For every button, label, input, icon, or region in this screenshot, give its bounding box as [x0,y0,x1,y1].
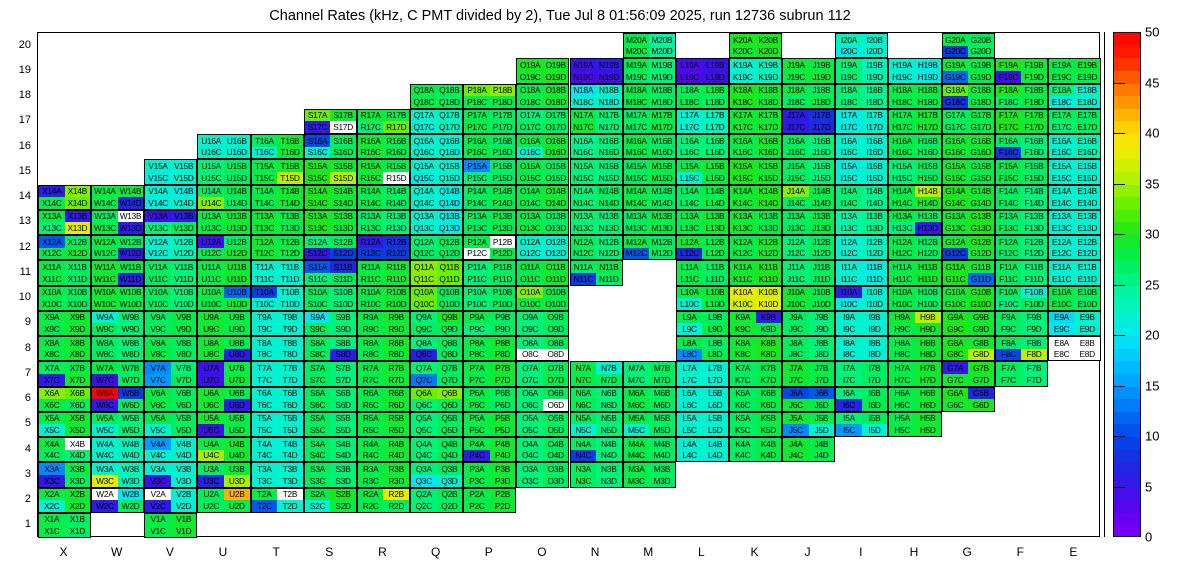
heatmap-block: H14AH14BH14CH14D [888,185,941,210]
heatmap-block: I13AI13BI13CI13D [835,210,888,235]
heatmap-channel: F16C [996,147,1022,159]
heatmap-channel: E9A [1049,312,1075,324]
heatmap-channel: G15C [943,172,969,184]
heatmap-channel: V10A [145,287,171,299]
heatmap-channel: T13D [277,222,303,234]
heatmap-channel: X5A [39,413,65,425]
heatmap-channel: M7D [649,374,675,386]
heatmap-channel: E14D [1074,197,1100,209]
heatmap-block: N15AN15BN15CN15D [570,159,623,184]
heatmap-block: W13AW13BW13CW13D [91,210,144,235]
heatmap-channel: X9A [39,312,65,324]
heatmap-channel: J11D [809,273,835,285]
heatmap-channel: E14A [1049,186,1075,198]
heatmap-channel: H11B [915,261,941,273]
heatmap-channel: H6B [915,388,941,400]
heatmap-channel: T14D [277,197,303,209]
heatmap-channel: G11A [943,261,969,273]
colorbar-tick-label: 10 [1145,429,1159,444]
heatmap-channel: N19B [596,59,622,71]
heatmap-block: O7AO7BO7CO7D [516,361,569,386]
heatmap-channel: I14C [836,197,862,209]
heatmap-block: O17AO17BO17CO17D [516,109,569,134]
heatmap-channel: S4D [330,450,356,462]
heatmap-channel: S8A [305,337,331,349]
heatmap-block: K11AK11BK11CK11D [729,260,782,285]
heatmap-channel: O10C [517,298,543,310]
heatmap-channel: V3A [145,463,171,475]
heatmap-channel: H11C [889,273,915,285]
heatmap-channel: P10C [464,298,490,310]
heatmap-channel: N4A [571,438,597,450]
heatmap-channel: F11B [1021,261,1047,273]
heatmap-block: U5AU5BU5CU5D [197,412,250,437]
heatmap-channel: J8A [783,337,809,349]
heatmap-channel: X10C [39,298,65,310]
heatmap-block: H18AH18BH18CH18D [888,84,941,109]
heatmap-channel: Q17D [437,121,463,133]
heatmap-channel: N15C [571,172,597,184]
heatmap-channel: J15C [783,172,809,184]
heatmap-channel: U5D [224,424,250,436]
heatmap-block: X11AX11BX11CX11D [38,260,91,285]
heatmap-channel: M19D [649,71,675,83]
heatmap-channel: R7A [358,362,384,374]
heatmap-channel: L4D [702,450,728,462]
heatmap-channel: L5B [702,413,728,425]
heatmap-block: E17AE17BE17CE17D [1048,109,1101,134]
heatmap-channel: Q6B [437,388,463,400]
heatmap-channel: G6C [943,399,969,411]
heatmap-channel: W4A [92,438,118,450]
heatmap-channel: N4B [596,438,622,450]
heatmap-channel: M6B [649,388,675,400]
heatmap-channel: L8D [702,349,728,361]
heatmap-channel: J6D [809,399,835,411]
heatmap-channel: Q15B [437,160,463,172]
heatmap-channel: S9A [305,312,331,324]
heatmap-channel: K12D [756,248,782,260]
heatmap-channel: J10A [783,287,809,299]
heatmap-channel: S12B [330,236,356,248]
heatmap-channel: S3D [330,475,356,487]
heatmap-channel: N13D [596,222,622,234]
heatmap-block: X12AX12BX12CX12D [38,235,91,260]
heatmap-block: H7AH7BH7CH7D [888,361,941,386]
heatmap-channel: I18D [862,96,888,108]
heatmap-channel: P11D [490,273,516,285]
heatmap-channel: K10D [756,298,782,310]
heatmap-channel: J17B [809,110,835,122]
heatmap-channel: P13A [464,211,490,223]
heatmap-channel: X11C [39,273,65,285]
heatmap-channel: E14B [1074,186,1100,198]
heatmap-channel: W11C [92,273,118,285]
heatmap-channel: L15C [677,172,703,184]
heatmap-block: R10AR10BR10CR10D [357,286,410,311]
heatmap-channel: M4C [624,450,650,462]
heatmap-channel: E9B [1074,312,1100,324]
heatmap-block: P4AP4BP4CP4D [463,437,516,462]
heatmap-channel: J5D [809,424,835,436]
heatmap-channel: K15B [756,160,782,172]
heatmap-channel: M12D [649,248,675,260]
heatmap-block: V7AV7BV7CV7D [144,361,197,386]
heatmap-channel: O8B [543,337,569,349]
heatmap-channel: G6A [943,388,969,400]
heatmap-channel: F17D [1021,121,1047,133]
heatmap-block: E19AE19BE19CE19D [1048,58,1101,83]
heatmap-channel: X8D [65,349,91,361]
y-tick-label: 5 [25,417,31,429]
heatmap-channel: W12C [92,248,118,260]
heatmap-channel: N13C [571,222,597,234]
heatmap-channel: J7A [783,362,809,374]
heatmap-channel: W11B [118,261,144,273]
heatmap-block: R16AR16BR16CR16D [357,134,410,159]
heatmap-channel: R11C [358,273,384,285]
heatmap-channel: J6A [783,388,809,400]
heatmap-block: O5AO5BO5CO5D [516,412,569,437]
heatmap-channel: N16B [596,135,622,147]
heatmap-channel: I10C [836,298,862,310]
heatmap-channel: K17B [756,110,782,122]
heatmap-block: J9AJ9BJ9CJ9D [782,311,835,336]
heatmap-channel: F13D [1021,222,1047,234]
heatmap-channel: U6B [224,388,250,400]
heatmap-channel: H9C [889,323,915,335]
heatmap-channel: N6A [571,388,597,400]
chart-title: Channel Rates (kHz, C PMT divided by 2),… [0,8,1120,24]
heatmap-block: O16AO16BO16CO16D [516,134,569,159]
heatmap-channel: J15B [809,160,835,172]
heatmap-block: G16AG16BG16CG16D [942,134,995,159]
heatmap-channel: N15A [571,160,597,172]
heatmap-channel: H14B [915,186,941,198]
heatmap-channel: V2B [171,489,197,501]
heatmap-channel: N7B [596,362,622,374]
heatmap-channel: P13C [464,222,490,234]
heatmap-block: N18AN18BN18CN18D [570,84,623,109]
heatmap-channel: L13B [702,211,728,223]
heatmap-channel: E10A [1049,287,1075,299]
heatmap-channel: O3D [543,475,569,487]
heatmap-channel: I13C [836,222,862,234]
heatmap-channel: F19B [1021,59,1047,71]
heatmap-channel: V6D [171,399,197,411]
heatmap-channel: L11C [677,273,703,285]
heatmap-channel: P17C [464,121,490,133]
heatmap-block: E18AE18BE18CE18D [1048,84,1101,109]
heatmap-channel: U16A [198,135,224,147]
heatmap-channel: I9B [862,312,888,324]
heatmap-channel: K18B [756,85,782,97]
heatmap-block: S17AS17BS17CS17D [304,109,357,134]
heatmap-channel: V6A [145,388,171,400]
heatmap-channel: L19A [677,59,703,71]
heatmap-channel: R16A [358,135,384,147]
heatmap-channel: E19C [1049,71,1075,83]
heatmap-channel: N19D [596,71,622,83]
heatmap-block: V14AV14BV14CV14D [144,185,197,210]
heatmap-block: G6AG6BG6CG6D [942,387,995,412]
heatmap-channel: R17C [358,121,384,133]
heatmap-block: G13AG13BG13CG13D [942,210,995,235]
heatmap-channel: V13A [145,211,171,223]
heatmap-channel: Q16B [437,135,463,147]
heatmap-channel: J18C [783,96,809,108]
heatmap-channel: U5A [198,413,224,425]
heatmap-channel: M4A [624,438,650,450]
heatmap-block: K19AK19BK19CK19D [729,58,782,83]
y-tick-label: 15 [19,165,31,177]
heatmap-channel: E17A [1049,110,1075,122]
heatmap-channel: X14A [39,186,65,198]
heatmap-channel: L14A [677,186,703,198]
heatmap-channel: O14B [543,186,569,198]
heatmap-channel: V12A [145,236,171,248]
x-tick-label: L [698,545,705,559]
heatmap-channel: P15D [490,172,516,184]
heatmap-channel: X7A [39,362,65,374]
heatmap-block: O19AO19BO19CO19D [516,58,569,83]
heatmap-channel: O16C [517,147,543,159]
heatmap-channel: G9B [968,312,994,324]
heatmap-block: W8AW8BW8CW8D [91,336,144,361]
heatmap-block: W3AW3BW3CW3D [91,462,144,487]
heatmap-block: Q13AQ13BQ13CQ13D [410,210,463,235]
heatmap-channel: O8C [517,349,543,361]
heatmap-channel: P3C [464,475,490,487]
heatmap-channel: G16C [943,147,969,159]
heatmap-channel: R8D [383,349,409,361]
heatmap-plot: M20AM20BM20CM20DK20AK20BK20CK20DI20AI20B… [37,32,1100,537]
heatmap-channel: E13A [1049,211,1075,223]
heatmap-channel: K11B [756,261,782,273]
heatmap-block: I9AI9BI9CI9D [835,311,888,336]
heatmap-channel: N5A [571,413,597,425]
heatmap-channel: H16B [915,135,941,147]
heatmap-channel: U10B [224,287,250,299]
heatmap-channel: K11A [730,261,756,273]
heatmap-channel: V11A [145,261,171,273]
heatmap-channel: E9C [1049,323,1075,335]
heatmap-channel: H15C [889,172,915,184]
heatmap-channel: X1D [65,525,91,537]
heatmap-channel: T4C [252,450,278,462]
heatmap-block: F16AF16BF16CF16D [995,134,1048,159]
heatmap-block: T6AT6BT6CT6D [251,387,304,412]
y-tick-label: 3 [25,468,31,480]
heatmap-block: V5AV5BV5CV5D [144,412,197,437]
heatmap-channel: T12D [277,248,303,260]
heatmap-channel: X6A [39,388,65,400]
heatmap-channel: P2A [464,489,490,501]
heatmap-channel: N17D [596,121,622,133]
heatmap-channel: X8C [39,349,65,361]
heatmap-channel: T5C [252,424,278,436]
heatmap-channel: S10C [305,298,331,310]
heatmap-channel: H19B [915,59,941,71]
heatmap-channel: O19D [543,71,569,83]
heatmap-block: G17AG17BG17CG17D [942,109,995,134]
heatmap-channel: U9A [198,312,224,324]
heatmap-channel: K5D [756,424,782,436]
heatmap-block: N19AN19BN19CN19D [570,58,623,83]
heatmap-channel: G13A [943,211,969,223]
heatmap-block: K14AK14BK14CK14D [729,185,782,210]
x-tick-label: O [537,545,546,559]
heatmap-block: K4AK4BK4CK4D [729,437,782,462]
heatmap-channel: H13A [889,211,915,223]
heatmap-channel: L13A [677,211,703,223]
heatmap-channel: G18D [968,96,994,108]
heatmap-block: V15AV15BV15CV15D [144,159,197,184]
heatmap-channel: J10C [783,298,809,310]
heatmap-channel: P17A [464,110,490,122]
heatmap-block: N5AN5BN5CN5D [570,412,623,437]
heatmap-channel: I19D [862,71,888,83]
heatmap-channel: R10C [358,298,384,310]
heatmap-channel: U4A [198,438,224,450]
heatmap-channel: T4A [252,438,278,450]
heatmap-channel: Q15A [411,160,437,172]
colorbar-tick-mark [1114,32,1125,33]
heatmap-channel: K6B [756,388,782,400]
heatmap-channel: K19C [730,71,756,83]
heatmap-channel: Q18D [437,96,463,108]
heatmap-channel: L18C [677,96,703,108]
heatmap-channel: I8D [862,349,888,361]
heatmap-channel: X4C [39,450,65,462]
heatmap-channel: M4B [649,438,675,450]
heatmap-channel: M20B [649,34,675,46]
heatmap-channel: G12A [943,236,969,248]
heatmap-block: I15AI15BI15CI15D [835,159,888,184]
heatmap-block: L14AL14BL14CL14D [676,185,729,210]
heatmap-channel: L5C [677,424,703,436]
heatmap-block: R6AR6BR6CR6D [357,387,410,412]
heatmap-channel: L15D [702,172,728,184]
heatmap-channel: E12D [1074,248,1100,260]
heatmap-block: M15AM15BM15CM15D [623,159,676,184]
heatmap-block: F13AF13BF13CF13D [995,210,1048,235]
heatmap-channel: L7A [677,362,703,374]
heatmap-channel: F10B [1021,287,1047,299]
x-tick-label: W [111,545,122,559]
heatmap-channel: X3C [39,475,65,487]
heatmap-channel: S3C [305,475,331,487]
heatmap-channel: K11C [730,273,756,285]
colorbar-tick-label: 20 [1145,328,1159,343]
heatmap-channel: G19A [943,59,969,71]
heatmap-channel: K8D [756,349,782,361]
heatmap-channel: K17A [730,110,756,122]
heatmap-channel: G20C [943,46,969,58]
heatmap-channel: L14C [677,197,703,209]
heatmap-channel: U15D [224,172,250,184]
heatmap-block: K6AK6BK6CK6D [729,387,782,412]
heatmap-channel: S2D [330,500,356,512]
heatmap-channel: S13B [330,211,356,223]
heatmap-block: P2AP2BP2CP2D [463,488,516,513]
heatmap-block: K7AK7BK7CK7D [729,361,782,386]
heatmap-channel: G17D [968,121,994,133]
heatmap-channel: S16D [330,147,356,159]
heatmap-channel: X1B [65,514,91,526]
heatmap-channel: W8D [118,349,144,361]
heatmap-channel: J8D [809,349,835,361]
heatmap-channel: W9B [118,312,144,324]
heatmap-channel: V1C [145,525,171,537]
heatmap-channel: Q10B [437,287,463,299]
heatmap-channel: M7B [649,362,675,374]
heatmap-block: H17AH17BH17CH17D [888,109,941,134]
heatmap-channel: H8B [915,337,941,349]
heatmap-block: O11AO11BO11CO11D [516,260,569,285]
heatmap-channel: L18D [702,96,728,108]
heatmap-channel: W7D [118,374,144,386]
heatmap-channel: K17C [730,121,756,133]
heatmap-block: L9AL9BL9CL9D [676,311,729,336]
heatmap-channel: L11A [677,261,703,273]
heatmap-block: E12AE12BE12CE12D [1048,235,1101,260]
heatmap-channel: O5A [517,413,543,425]
heatmap-channel: I8B [862,337,888,349]
heatmap-channel: P4B [490,438,516,450]
heatmap-block: U16AU16BU16CU16D [197,134,250,159]
heatmap-channel: N17C [571,121,597,133]
heatmap-channel: W11D [118,273,144,285]
heatmap-channel: R3C [358,475,384,487]
heatmap-channel: E13C [1049,222,1075,234]
heatmap-block: I16AI16BI16CI16D [835,134,888,159]
heatmap-channel: V13D [171,222,197,234]
heatmap-channel: U9B [224,312,250,324]
heatmap-channel: V9A [145,312,171,324]
heatmap-channel: K19B [756,59,782,71]
heatmap-block: G19AG19BG19CG19D [942,58,995,83]
heatmap-channel: Q4D [437,450,463,462]
heatmap-channel: T3B [277,463,303,475]
heatmap-channel: S17C [305,121,331,133]
heatmap-channel: R8A [358,337,384,349]
heatmap-channel: T2A [252,489,278,501]
heatmap-block: P13AP13BP13CP13D [463,210,516,235]
heatmap-channel: H15D [915,172,941,184]
heatmap-channel: E12C [1049,248,1075,260]
heatmap-block: F17AF17BF17CF17D [995,109,1048,134]
heatmap-block: K9AK9BK9CK9D [729,311,782,336]
heatmap-channel: N19C [571,71,597,83]
colorbar-tick-label: 45 [1145,75,1159,90]
heatmap-channel: K16B [756,135,782,147]
heatmap-block: X13AX13BX13CX13D [38,210,91,235]
heatmap-block: M14AM14BM14CM14D [623,185,676,210]
heatmap-channel: O16A [517,135,543,147]
heatmap-channel: H19A [889,59,915,71]
heatmap-channel: X3D [65,475,91,487]
heatmap-channel: N12C [571,248,597,260]
heatmap-channel: W4C [92,450,118,462]
heatmap-channel: F7A [996,362,1022,374]
heatmap-channel: S7A [305,362,331,374]
heatmap-block: N11AN11BN11CN11D [570,260,623,285]
heatmap-channel: V4C [145,450,171,462]
heatmap-channel: T8A [252,337,278,349]
heatmap-channel: T11C [252,273,278,285]
heatmap-block: R9AR9BR9CR9D [357,311,410,336]
